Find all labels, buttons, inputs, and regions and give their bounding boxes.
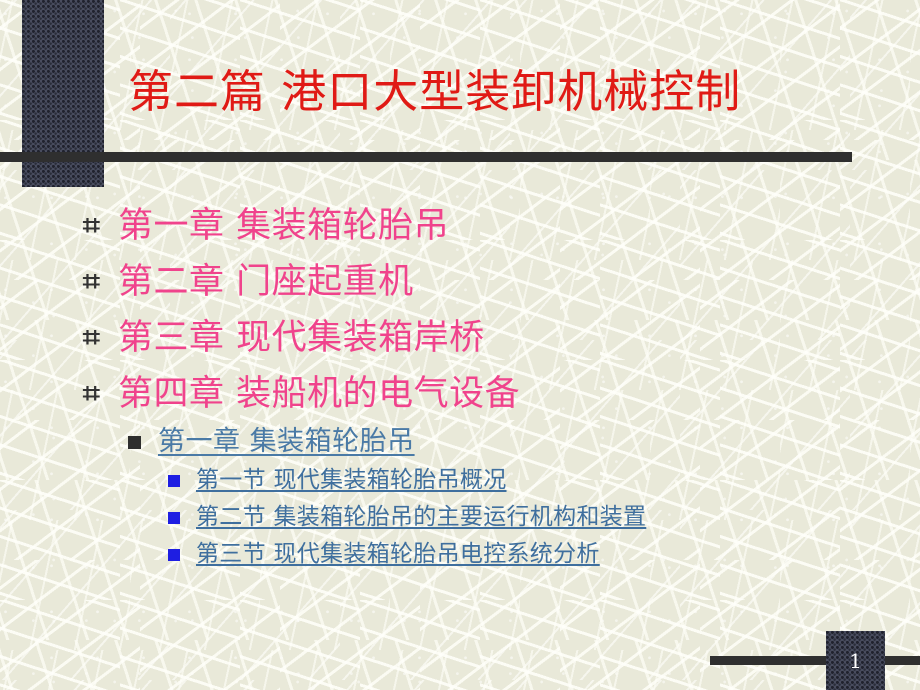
chapter-item-4[interactable]: ⌗ 第四章 装船机的电气设备	[0, 366, 920, 422]
chapter-link-label[interactable]: 第一章 集装箱轮胎吊	[158, 426, 415, 457]
slide-title: 第二篇 港口大型装卸机械控制	[128, 68, 908, 115]
sharp-bullet-icon: ⌗	[83, 366, 100, 422]
chapter-list: ⌗ 第一章 集装箱轮胎吊 ⌗ 第二章 门座起重机 ⌗ 第三章 现代集装箱岸桥 ⌗…	[0, 198, 920, 573]
section-link-item-2[interactable]: 第二节 集装箱轮胎吊的主要运行机构和装置	[0, 499, 920, 536]
chapter-label: 第一章 集装箱轮胎吊	[118, 206, 449, 246]
chapter-label: 第三章 现代集装箱岸桥	[118, 318, 485, 358]
chapter-item-1[interactable]: ⌗ 第一章 集装箱轮胎吊	[0, 198, 920, 254]
sharp-bullet-icon: ⌗	[83, 254, 100, 310]
square-bullet-icon	[128, 436, 141, 449]
title-divider-rule	[0, 152, 852, 162]
section-link-label[interactable]: 第一节 现代集装箱轮胎吊概况	[196, 467, 507, 493]
outline-content: ⌗ 第一章 集装箱轮胎吊 ⌗ 第二章 门座起重机 ⌗ 第三章 现代集装箱岸桥 ⌗…	[0, 198, 920, 573]
sharp-bullet-icon: ⌗	[83, 198, 100, 254]
blue-square-bullet-icon	[168, 549, 180, 561]
section-link-item-1[interactable]: 第一节 现代集装箱轮胎吊概况	[0, 462, 920, 499]
sharp-bullet-icon: ⌗	[83, 310, 100, 366]
presentation-slide: 第二篇 港口大型装卸机械控制 ⌗ 第一章 集装箱轮胎吊 ⌗ 第二章 门座起重机 …	[0, 0, 920, 690]
chapter-item-2[interactable]: ⌗ 第二章 门座起重机	[0, 254, 920, 310]
footer-divider-rule	[710, 656, 920, 665]
blue-square-bullet-icon	[168, 512, 180, 524]
blue-square-bullet-icon	[168, 475, 180, 487]
section-link-item-3[interactable]: 第三节 现代集装箱轮胎吊电控系统分析	[0, 536, 920, 573]
chapter-label: 第二章 门座起重机	[118, 262, 414, 302]
chapter-item-3[interactable]: ⌗ 第三章 现代集装箱岸桥	[0, 310, 920, 366]
page-number: 1	[826, 631, 885, 690]
section-link-label[interactable]: 第三节 现代集装箱轮胎吊电控系统分析	[196, 541, 600, 567]
chapter-link-heading[interactable]: 第一章 集装箱轮胎吊	[0, 422, 920, 462]
section-link-label[interactable]: 第二节 集装箱轮胎吊的主要运行机构和装置	[196, 504, 646, 530]
chapter-label: 第四章 装船机的电气设备	[118, 374, 520, 414]
